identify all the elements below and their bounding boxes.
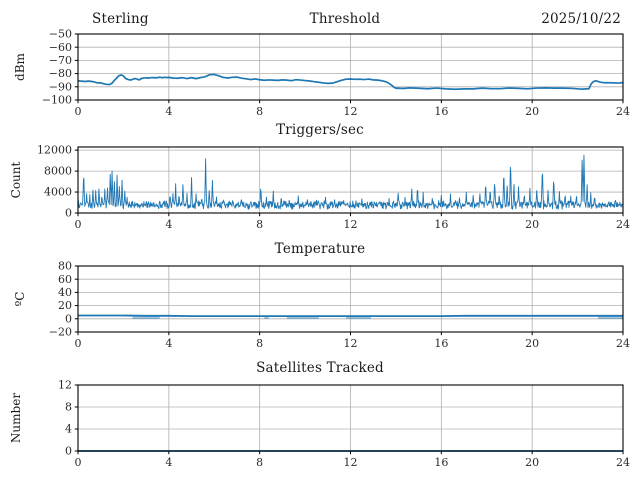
chart-satellites_tracked: 0481216202404812Number [0, 360, 640, 480]
x-tick-label: 24 [616, 105, 630, 118]
x-tick-label: 20 [525, 105, 539, 118]
x-tick-label: 8 [256, 105, 263, 118]
x-tick-label: 16 [434, 105, 448, 118]
x-tick-label: 0 [75, 105, 82, 118]
x-tick-label: 16 [434, 456, 448, 469]
y-tick-label: −100 [42, 94, 72, 107]
panel-title-triggers: Triggers/sec [0, 122, 640, 138]
x-tick-label: 12 [344, 105, 358, 118]
x-tick-label: 12 [344, 337, 358, 350]
y-tick-label: −70 [49, 54, 72, 67]
figure-date-label: 2025/10/22 [541, 11, 623, 27]
x-tick-label: 8 [256, 218, 263, 231]
x-tick-label: 20 [525, 456, 539, 469]
figure-header: Sterling Threshold 2025/10/22 [78, 9, 623, 28]
x-tick-label: 8 [256, 337, 263, 350]
y-tick-label: 60 [58, 273, 72, 286]
x-tick-label: 24 [616, 337, 630, 350]
chart-temperature: 04812162024−20020406080ºC [0, 241, 640, 360]
x-tick-label: 0 [75, 337, 82, 350]
panel-title-temperature: Temperature [0, 241, 640, 257]
chart-threshold: 04812162024−100−90−80−70−60−50dBm [0, 28, 640, 122]
x-axis: 04812162024 [75, 451, 631, 469]
panel-title-satellites: Satellites Tracked [0, 360, 640, 376]
y-tick-label: 4000 [44, 186, 72, 199]
y-axis-label: ºC [13, 292, 27, 307]
x-tick-label: 4 [165, 337, 172, 350]
x-tick-label: 12 [344, 218, 358, 231]
y-tick-label: −60 [49, 41, 72, 54]
panel-temperature: Temperature 04812162024−20020406080ºC [0, 241, 640, 360]
y-tick-label: 0 [65, 207, 72, 220]
x-tick-label: 4 [165, 456, 172, 469]
y-axis: 04000800012000 [37, 144, 78, 220]
x-axis: 04812162024 [75, 100, 631, 118]
figure-canvas: Sterling Threshold 2025/10/22 0481216202… [0, 0, 640, 480]
y-tick-label: −80 [49, 67, 72, 80]
y-axis-label: Number [9, 393, 23, 443]
panel-triggers-per-sec: Triggers/sec 0481216202404000800012000Co… [0, 122, 640, 241]
y-tick-label: −50 [49, 28, 72, 41]
y-tick-label: 8 [65, 401, 72, 414]
x-tick-label: 24 [616, 456, 630, 469]
y-tick-label: 8000 [44, 165, 72, 178]
y-tick-label: 12 [58, 379, 72, 392]
y-tick-label: 80 [58, 260, 72, 273]
chart-triggers_per_sec: 0481216202404000800012000Count [0, 122, 640, 241]
station-name-label: Sterling [78, 11, 149, 27]
x-tick-label: 4 [165, 105, 172, 118]
y-tick-label: 40 [58, 286, 72, 299]
y-tick-label: 12000 [37, 144, 72, 157]
x-tick-label: 12 [344, 456, 358, 469]
y-axis: 04812 [58, 379, 78, 458]
x-tick-label: 8 [256, 456, 263, 469]
x-tick-label: 0 [75, 218, 82, 231]
y-axis: −20020406080 [49, 260, 78, 339]
x-tick-label: 20 [525, 218, 539, 231]
x-tick-label: 16 [434, 218, 448, 231]
x-axis: 04812162024 [75, 332, 631, 350]
y-tick-label: −20 [49, 326, 72, 339]
y-tick-label: 20 [58, 299, 72, 312]
x-tick-label: 20 [525, 337, 539, 350]
trace-line [78, 316, 623, 317]
y-tick-label: 0 [65, 445, 72, 458]
panel-threshold: 04812162024−100−90−80−70−60−50dBm [0, 28, 640, 122]
y-axis-label: Count [9, 161, 23, 198]
y-axis-label: dBm [13, 52, 27, 81]
x-axis: 04812162024 [75, 213, 631, 231]
x-tick-label: 4 [165, 218, 172, 231]
y-tick-label: 0 [65, 312, 72, 325]
panel-satellites-tracked: Satellites Tracked 0481216202404812Numbe… [0, 360, 640, 480]
figure-title-label: Threshold [149, 11, 541, 27]
x-tick-label: 16 [434, 337, 448, 350]
y-tick-label: −90 [49, 80, 72, 93]
x-tick-label: 24 [616, 218, 630, 231]
x-tick-label: 0 [75, 456, 82, 469]
y-tick-label: 4 [65, 423, 72, 436]
y-axis: −100−90−80−70−60−50 [42, 28, 78, 107]
